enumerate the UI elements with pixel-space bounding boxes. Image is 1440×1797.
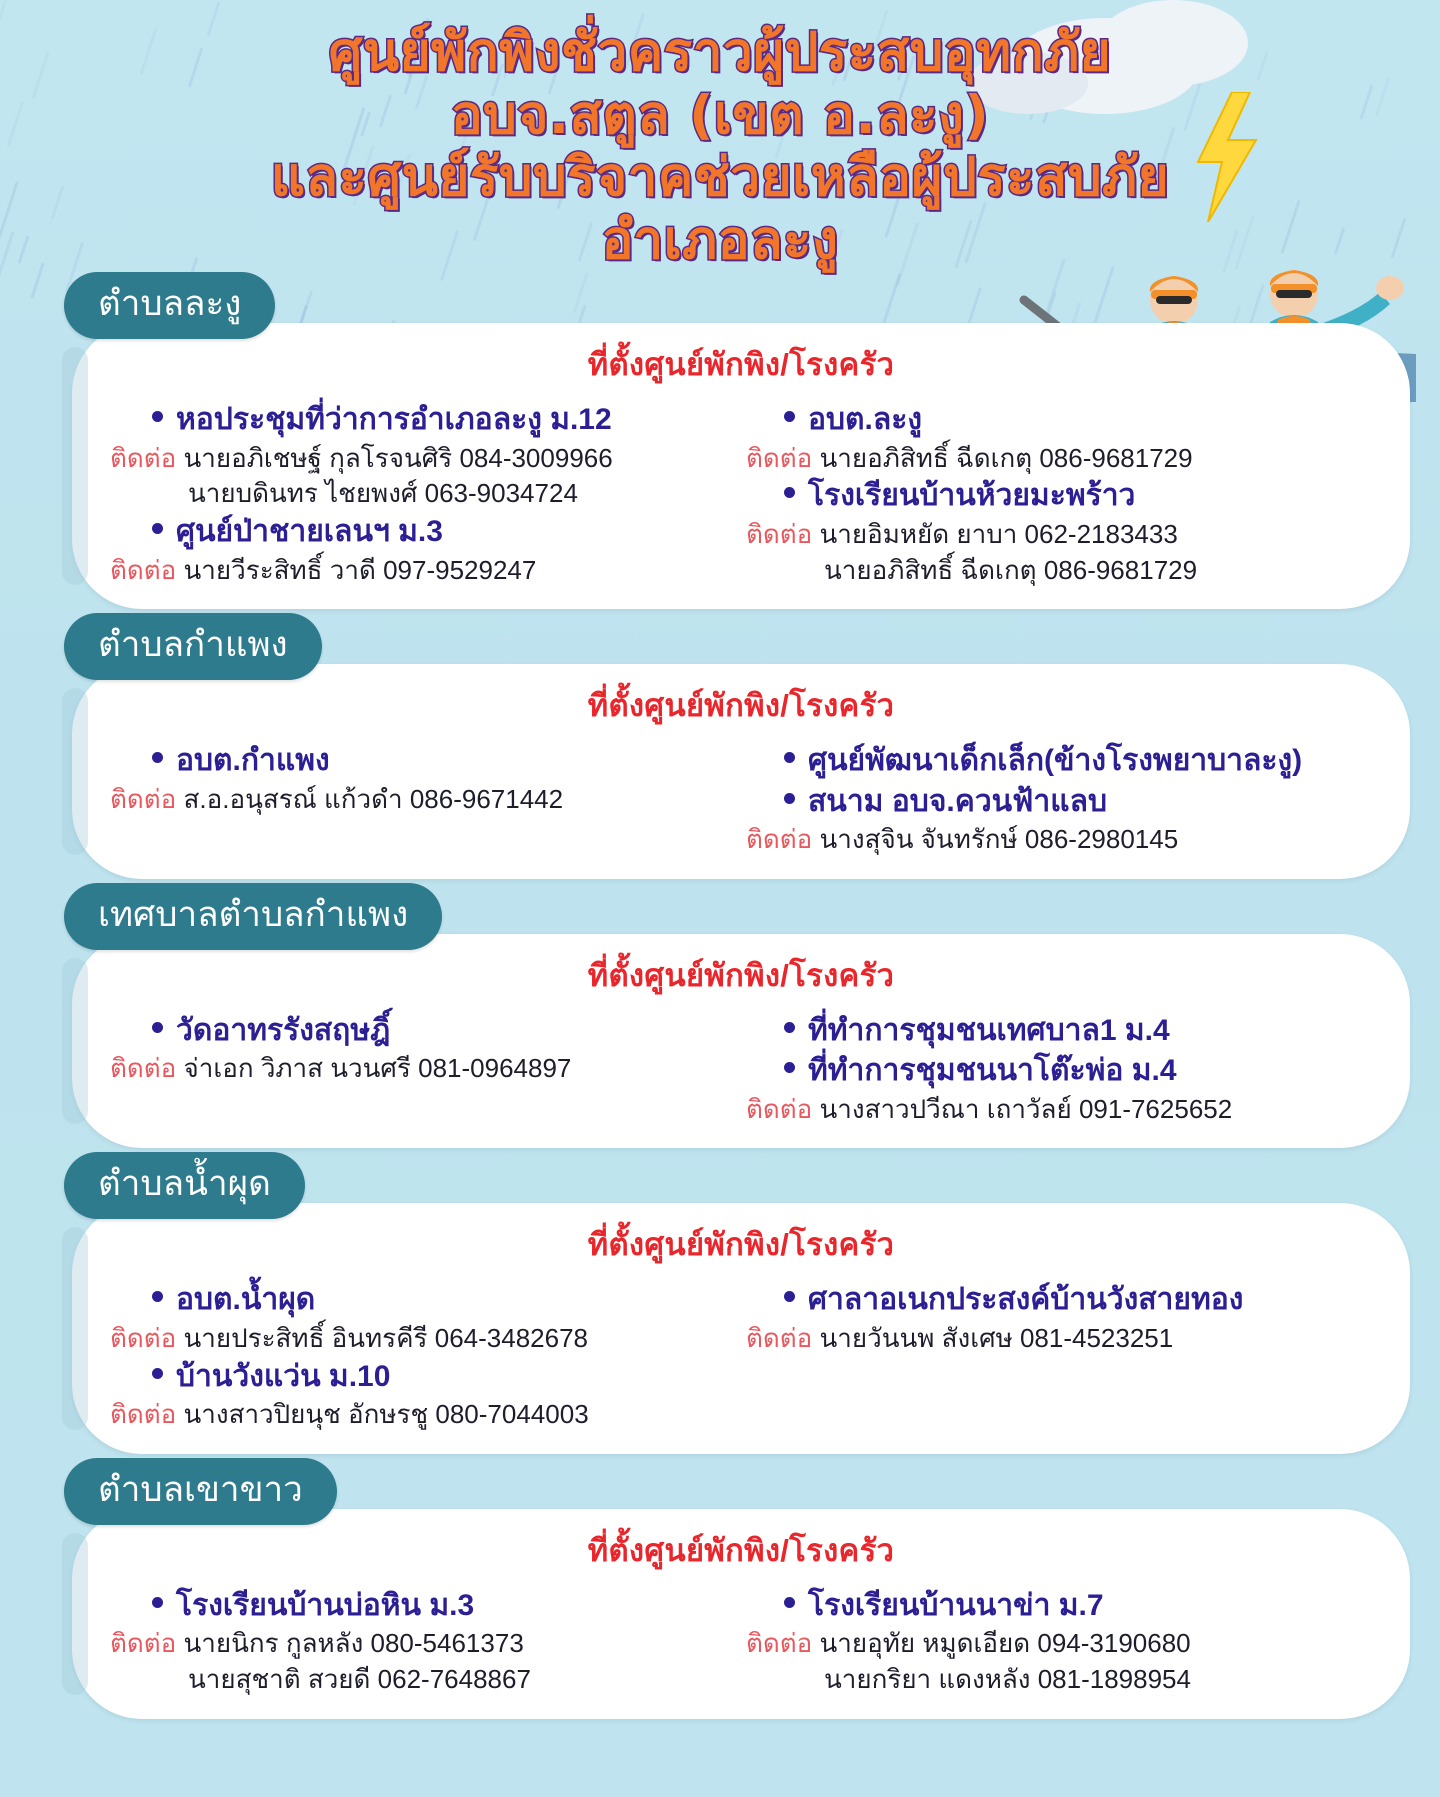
- shelter-name: อบต.น้ำผุด: [176, 1281, 315, 1319]
- contact-name: นายกริยา แดงหลัง: [824, 1664, 1030, 1694]
- shelter-name: บ้านวังแว่น ม.10: [176, 1358, 390, 1396]
- township-card: ที่ตั้งศูนย์พักพิง/โรงครัวอบต.น้ำผุดติดต…: [72, 1203, 1410, 1453]
- shelter-entry: โรงเรียนบ้านนาข่า ม.7: [746, 1587, 1372, 1625]
- shelter-entry: บ้านวังแว่น ม.10: [110, 1358, 736, 1396]
- shelter-entry: วัดอาทรรังสฤษฎิ์: [110, 1012, 736, 1050]
- shelter-entry: ที่ทำการชุมชนนาโต๊ะพ่อ ม.4: [746, 1052, 1372, 1090]
- contact-label: ติดต่อ: [110, 784, 176, 814]
- contact-phone: 062-2183433: [1025, 519, 1178, 549]
- contact-line: นายกริยา แดงหลัง 081-1898954: [746, 1663, 1372, 1697]
- bullet-icon: [152, 1022, 163, 1033]
- township-chip: ตำบลละงู: [64, 272, 275, 339]
- contact-phone: 097-9529247: [383, 555, 536, 585]
- contact-line: ติดต่อ นางสาวปวีณา เถาวัลย์ 091-7625652: [746, 1093, 1372, 1127]
- township-chip: ตำบลน้ำผุด: [64, 1152, 305, 1219]
- contact-line: ติดต่อ นางสาวปิยนุช อักษรชู 080-7044003: [110, 1398, 736, 1432]
- bullet-icon: [784, 1597, 795, 1608]
- shelter-name: ศาลาอเนกประสงค์บ้านวังสายทอง: [808, 1281, 1243, 1319]
- sections-container: ตำบลละงูที่ตั้งศูนย์พักพิง/โรงครัวหอประช…: [0, 272, 1440, 1719]
- shelter-name: โรงเรียนบ้านห้วยมะพร้าว: [808, 477, 1135, 515]
- bullet-icon: [784, 1022, 795, 1033]
- contact-name: ส.อ.อนุสรณ์ แก้วดำ: [184, 784, 403, 814]
- contact-label: ติดต่อ: [746, 1628, 812, 1658]
- contact-name: นายอภิสิทธิ์ ฉีดเกตุ: [824, 555, 1037, 585]
- bullet-icon: [152, 1368, 163, 1379]
- column-left: วัดอาทรรังสฤษฎิ์ติดต่อ จ่าเอก วิภาส นวนศ…: [110, 1010, 736, 1127]
- contact-line: ติดต่อ นายประสิทธิ์ อินทรคีรี 064-348267…: [110, 1322, 736, 1356]
- contact-line: ติดต่อ นายนิกร กูลหลัง 080-5461373: [110, 1627, 736, 1661]
- contact-phone: 084-3009966: [459, 443, 612, 473]
- township-section: ตำบลเขาขาวที่ตั้งศูนย์พักพิง/โรงครัวโรงเ…: [0, 1458, 1440, 1719]
- contact-phone: 080-7044003: [435, 1399, 588, 1429]
- shelter-entry: ศูนย์พัฒนาเด็กเล็ก(ข้างโรงพยาบาละงู): [746, 742, 1372, 780]
- contact-line: ติดต่อ นายอุทัย หมูดเอียด 094-3190680: [746, 1627, 1372, 1661]
- contact-line: ติดต่อ นายอิมหยัด ยาบา 062-2183433: [746, 518, 1372, 552]
- contact-phone: 081-4523251: [1020, 1323, 1173, 1353]
- column-left: อบต.น้ำผุดติดต่อ นายประสิทธิ์ อินทรคีรี …: [110, 1279, 736, 1431]
- contact-label: ติดต่อ: [746, 824, 812, 854]
- column-left: อบต.กำแพงติดต่อ ส.อ.อนุสรณ์ แก้วดำ 086-9…: [110, 740, 736, 857]
- contact-label: ติดต่อ: [110, 1053, 176, 1083]
- shelter-name: ศูนย์พัฒนาเด็กเล็ก(ข้างโรงพยาบาละงู): [808, 742, 1302, 780]
- column-right: อบต.ละงูติดต่อ นายอภิสิทธิ์ ฉีดเกตุ 086-…: [746, 399, 1372, 587]
- shelter-entry: หอประชุมที่ว่าการอำเภอละงู ม.12: [110, 401, 736, 439]
- contact-label: ติดต่อ: [110, 1628, 176, 1658]
- township-card: ที่ตั้งศูนย์พักพิง/โรงครัววัดอาทรรังสฤษฎ…: [72, 934, 1410, 1149]
- shelter-entry: อบต.ละงู: [746, 401, 1372, 439]
- card-heading: ที่ตั้งศูนย์พักพิง/โรงครัว: [110, 339, 1372, 389]
- shelter-name: อบต.ละงู: [808, 401, 922, 439]
- contact-phone: 081-0964897: [418, 1053, 571, 1083]
- shelter-name: หอประชุมที่ว่าการอำเภอละงู ม.12: [176, 401, 612, 439]
- township-card: ที่ตั้งศูนย์พักพิง/โรงครัวอบต.กำแพงติดต่…: [72, 664, 1410, 879]
- contact-name: นางสุจิน จันทรักษ์: [820, 824, 1018, 854]
- bullet-icon: [784, 752, 795, 763]
- column-right: โรงเรียนบ้านนาข่า ม.7ติดต่อ นายอุทัย หมู…: [746, 1585, 1372, 1697]
- contact-line: ติดต่อ นายวันนพ สังเศษ 081-4523251: [746, 1322, 1372, 1356]
- contact-name: นางสาวปวีณา เถาวัลย์: [820, 1094, 1072, 1124]
- township-chip: ตำบลกำแพง: [64, 613, 322, 680]
- bullet-icon: [784, 487, 795, 498]
- contact-label: ติดต่อ: [746, 1094, 812, 1124]
- contact-phone: 086-9681729: [1039, 443, 1192, 473]
- contact-label: ติดต่อ: [110, 555, 176, 585]
- contact-name: นายบดินทร ไชยพงศ์: [188, 478, 417, 508]
- title-line-2: อบจ.สตูล (เขต อ.ละงู): [120, 85, 1320, 148]
- column-left: หอประชุมที่ว่าการอำเภอละงู ม.12ติดต่อ นา…: [110, 399, 736, 587]
- shelter-name: วัดอาทรรังสฤษฎิ์: [176, 1012, 390, 1050]
- shelter-name: ศูนย์ป่าชายเลนฯ ม.3: [176, 513, 443, 551]
- shelter-name: อบต.กำแพง: [176, 742, 330, 780]
- bullet-icon: [784, 1062, 795, 1073]
- poster-title: ศูนย์พักพิงชั่วคราวผู้ประสบอุทกภัย อบจ.ส…: [0, 0, 1440, 272]
- township-chip: เทศบาลตำบลกำแพง: [64, 883, 442, 950]
- contact-name: นายประสิทธิ์ อินทรคีรี: [184, 1323, 428, 1353]
- column-right: ศาลาอเนกประสงค์บ้านวังสายทองติดต่อ นายวั…: [746, 1279, 1372, 1431]
- township-section: เทศบาลตำบลกำแพงที่ตั้งศูนย์พักพิง/โรงครั…: [0, 883, 1440, 1149]
- contact-label: ติดต่อ: [746, 443, 812, 473]
- shelter-name: สนาม อบจ.ควนฟ้าแลบ: [808, 783, 1107, 821]
- contact-line: ติดต่อ นายวีระสิทธิ์ วาดี 097-9529247: [110, 554, 736, 588]
- title-line-4: อำเภอละงู: [120, 210, 1320, 273]
- contact-line: ติดต่อ นายอภิสิทธิ์ ฉีดเกตุ 086-9681729: [746, 442, 1372, 476]
- contact-phone: 094-3190680: [1037, 1628, 1190, 1658]
- contact-name: นายวีระสิทธิ์ วาดี: [184, 555, 376, 585]
- contact-line: นายบดินทร ไชยพงศ์ 063-9034724: [110, 477, 736, 511]
- contact-phone: 063-9034724: [425, 478, 578, 508]
- title-line-3: และศูนย์รับบริจาคช่วยเหลือผู้ประสบภัย: [120, 147, 1320, 210]
- shelter-entry: ที่ทำการชุมชนเทศบาล1 ม.4: [746, 1012, 1372, 1050]
- contact-label: ติดต่อ: [110, 443, 176, 473]
- shelter-entry: ศาลาอเนกประสงค์บ้านวังสายทอง: [746, 1281, 1372, 1319]
- contact-name: นายอภิเชษฐ์ กุลโรจนศิริ: [184, 443, 453, 473]
- contact-label: ติดต่อ: [110, 1323, 176, 1353]
- township-card: ที่ตั้งศูนย์พักพิง/โรงครัวหอประชุมที่ว่า…: [72, 323, 1410, 609]
- contact-name: นายนิกร กูลหลัง: [184, 1628, 364, 1658]
- contact-line: ติดต่อ จ่าเอก วิภาส นวนศรี 081-0964897: [110, 1052, 736, 1086]
- contact-phone: 062-7648867: [378, 1664, 531, 1694]
- bullet-icon: [152, 523, 163, 534]
- shelter-entry: อบต.น้ำผุด: [110, 1281, 736, 1319]
- shelter-name: โรงเรียนบ้านบ่อหิน ม.3: [176, 1587, 474, 1625]
- bullet-icon: [784, 793, 795, 804]
- contact-name: นางสาวปิยนุช อักษรชู: [184, 1399, 429, 1429]
- contact-line: ติดต่อ ส.อ.อนุสรณ์ แก้วดำ 086-9671442: [110, 783, 736, 817]
- contact-phone: 091-7625652: [1079, 1094, 1232, 1124]
- bullet-icon: [784, 1291, 795, 1302]
- title-line-1: ศูนย์พักพิงชั่วคราวผู้ประสบอุทกภัย: [120, 22, 1320, 85]
- contact-name: นายอุทัย หมูดเอียด: [820, 1628, 1031, 1658]
- bullet-icon: [152, 752, 163, 763]
- contact-phone: 086-9681729: [1044, 555, 1197, 585]
- card-heading: ที่ตั้งศูนย์พักพิง/โรงครัว: [110, 1525, 1372, 1575]
- contact-label: ติดต่อ: [746, 1323, 812, 1353]
- card-heading: ที่ตั้งศูนย์พักพิง/โรงครัว: [110, 1219, 1372, 1269]
- bullet-icon: [152, 411, 163, 422]
- bullet-icon: [784, 411, 795, 422]
- poster-root: ศูนย์พักพิงชั่วคราวผู้ประสบอุทกภัย อบจ.ส…: [0, 0, 1440, 1797]
- shelter-name: โรงเรียนบ้านนาข่า ม.7: [808, 1587, 1104, 1625]
- contact-phone: 086-2980145: [1025, 824, 1178, 854]
- shelter-name: ที่ทำการชุมชนนาโต๊ะพ่อ ม.4: [808, 1052, 1177, 1090]
- shelter-entry: โรงเรียนบ้านห้วยมะพร้าว: [746, 477, 1372, 515]
- township-card: ที่ตั้งศูนย์พักพิง/โรงครัวโรงเรียนบ้านบ่…: [72, 1509, 1410, 1719]
- contact-line: ติดต่อ นายอภิเชษฐ์ กุลโรจนศิริ 084-30099…: [110, 442, 736, 476]
- contact-name: นายวันนพ สังเศษ: [820, 1323, 1013, 1353]
- card-heading: ที่ตั้งศูนย์พักพิง/โรงครัว: [110, 950, 1372, 1000]
- contact-phone: 064-3482678: [435, 1323, 588, 1353]
- contact-name: นายอิมหยัด ยาบา: [820, 519, 1018, 549]
- township-section: ตำบลกำแพงที่ตั้งศูนย์พักพิง/โรงครัวอบต.ก…: [0, 613, 1440, 879]
- column-right: ศูนย์พัฒนาเด็กเล็ก(ข้างโรงพยาบาละงู)สนาม…: [746, 740, 1372, 857]
- bullet-icon: [152, 1291, 163, 1302]
- column-right: ที่ทำการชุมชนเทศบาล1 ม.4ที่ทำการชุมชนนาโ…: [746, 1010, 1372, 1127]
- bullet-icon: [152, 1597, 163, 1608]
- contact-name: นายอภิสิทธิ์ ฉีดเกตุ: [820, 443, 1033, 473]
- shelter-name: ที่ทำการชุมชนเทศบาล1 ม.4: [808, 1012, 1170, 1050]
- township-section: ตำบลละงูที่ตั้งศูนย์พักพิง/โรงครัวหอประช…: [0, 272, 1440, 609]
- card-heading: ที่ตั้งศูนย์พักพิง/โรงครัว: [110, 680, 1372, 730]
- shelter-entry: สนาม อบจ.ควนฟ้าแลบ: [746, 783, 1372, 821]
- contact-label: ติดต่อ: [110, 1399, 176, 1429]
- township-chip: ตำบลเขาขาว: [64, 1458, 337, 1525]
- contact-phone: 081-1898954: [1038, 1664, 1191, 1694]
- contact-phone: 086-9671442: [410, 784, 563, 814]
- contact-line: นายอภิสิทธิ์ ฉีดเกตุ 086-9681729: [746, 554, 1372, 588]
- township-section: ตำบลน้ำผุดที่ตั้งศูนย์พักพิง/โรงครัวอบต.…: [0, 1152, 1440, 1453]
- contact-label: ติดต่อ: [746, 519, 812, 549]
- contact-name: นายสุชาติ สวยดี: [188, 1664, 370, 1694]
- contact-line: นายสุชาติ สวยดี 062-7648867: [110, 1663, 736, 1697]
- shelter-entry: ศูนย์ป่าชายเลนฯ ม.3: [110, 513, 736, 551]
- contact-phone: 080-5461373: [371, 1628, 524, 1658]
- shelter-entry: โรงเรียนบ้านบ่อหิน ม.3: [110, 1587, 736, 1625]
- contact-name: จ่าเอก วิภาส นวนศรี: [184, 1053, 411, 1083]
- column-left: โรงเรียนบ้านบ่อหิน ม.3ติดต่อ นายนิกร กูล…: [110, 1585, 736, 1697]
- contact-line: ติดต่อ นางสุจิน จันทรักษ์ 086-2980145: [746, 823, 1372, 857]
- shelter-entry: อบต.กำแพง: [110, 742, 736, 780]
